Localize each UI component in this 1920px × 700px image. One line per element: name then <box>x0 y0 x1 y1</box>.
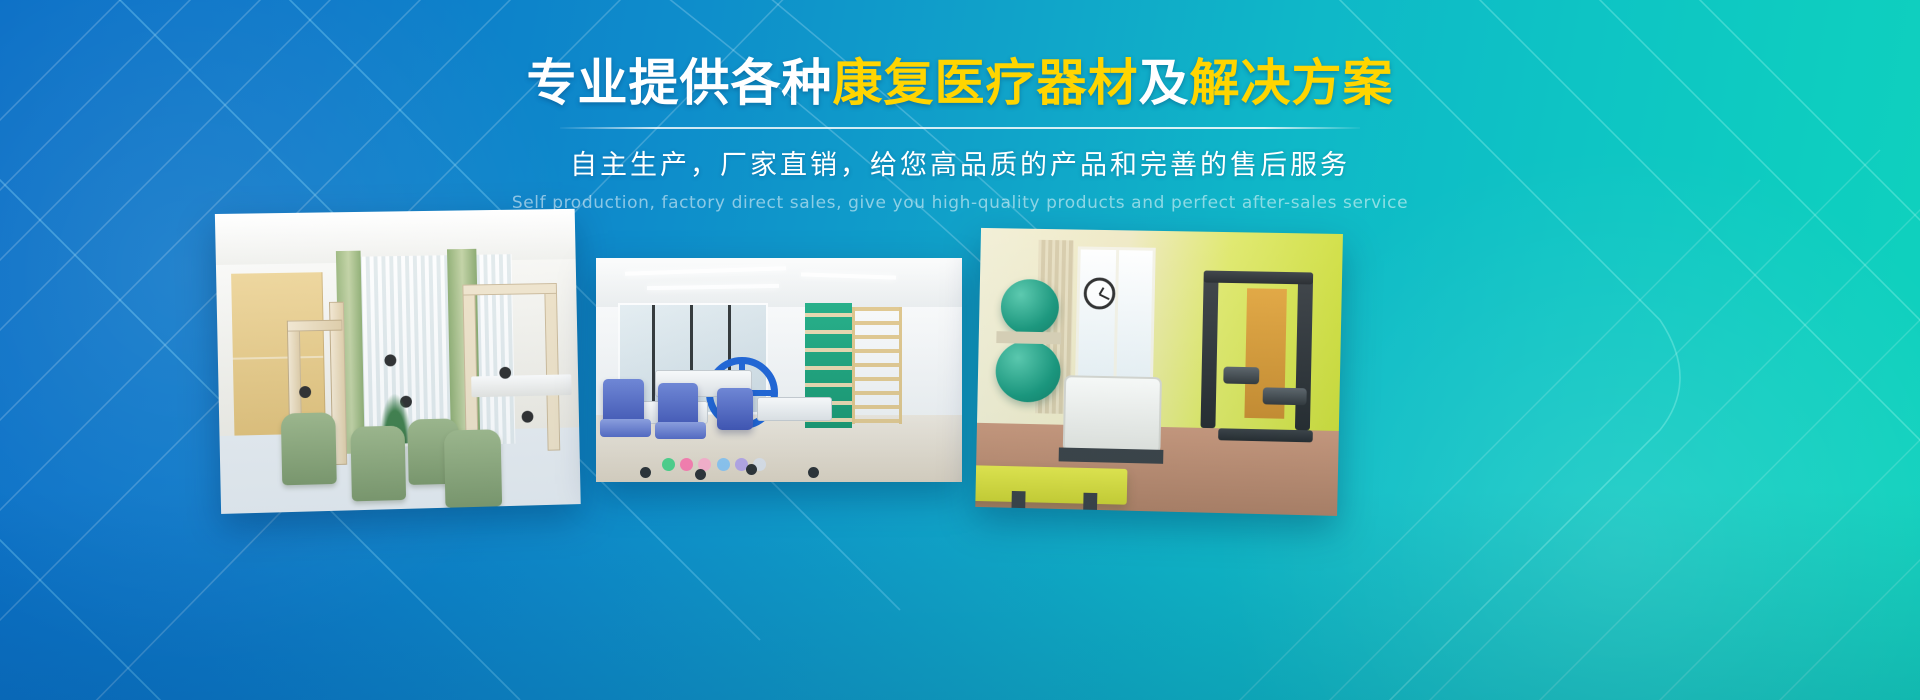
training-frame-beam <box>286 320 343 332</box>
scene-rehab-gym-room <box>975 228 1343 516</box>
window <box>1075 246 1156 388</box>
blue-chair-seat-1 <box>600 419 651 437</box>
headline-part-white-2: 及 <box>1139 54 1190 112</box>
headline-part-yellow-1: 康复医疗器材 <box>833 54 1139 112</box>
yellow-treatment-table <box>975 465 1127 505</box>
caster-wheel-1 <box>640 467 651 478</box>
bar-rung-1 <box>805 313 853 317</box>
equipment-trolley <box>757 397 832 421</box>
bar-rung-2 <box>805 330 853 334</box>
cable-machine-crossbar <box>1203 271 1312 284</box>
dumbbell-green <box>662 458 675 471</box>
sage-chair-2 <box>350 426 406 502</box>
page-title: 专业提供各种康复医疗器材及解决方案 <box>0 58 1920 108</box>
promo-banner: 专业提供各种康复医疗器材及解决方案 自主生产，厂家直销，给您高品质的产品和完善的… <box>0 0 1920 700</box>
headline-part-white-1: 专业提供各种 <box>527 54 833 112</box>
wood-cabinet <box>231 272 326 435</box>
subtitle-chinese: 自主生产，厂家直销，给您高品质的产品和完善的售后服务 <box>0 143 1920 182</box>
bar-rung-4 <box>805 366 853 370</box>
right-frame-rail <box>462 283 557 296</box>
parallel-bar-rack <box>1063 375 1162 454</box>
sage-chair-4 <box>444 429 503 508</box>
machine-foot-rail <box>1218 429 1313 442</box>
mirror-mullion-1 <box>652 305 655 413</box>
photo-rehab-equipment-hall[interactable] <box>596 258 962 482</box>
subtitle-english: Self production, factory direct sales, g… <box>0 193 1920 213</box>
blue-chair-seat-2 <box>655 422 706 440</box>
table-leg-a <box>1011 491 1026 514</box>
ceiling <box>596 258 962 307</box>
photo-rehab-gym-room[interactable] <box>975 228 1343 516</box>
therapy-bench <box>471 374 571 397</box>
dumbbell-blue <box>717 458 730 471</box>
rack-base <box>1059 447 1164 463</box>
wooden-ladder <box>852 307 902 423</box>
caster-wheel-4 <box>808 467 819 478</box>
scene-rehab-training-room <box>215 209 581 514</box>
bar-rung-5 <box>805 383 853 387</box>
machine-pad-a <box>1223 367 1260 385</box>
sage-chair-1 <box>281 412 337 485</box>
photo-rehab-training-room[interactable] <box>215 209 581 514</box>
window-mullion <box>1114 250 1120 385</box>
table-leg-b <box>1083 493 1098 516</box>
blue-therapy-chair-3 <box>717 388 754 431</box>
dumbbell-pink <box>680 458 693 471</box>
machine-pad-b <box>1263 387 1307 405</box>
headline-part-yellow-2: 解决方案 <box>1190 54 1394 112</box>
divider-rule <box>560 127 1360 129</box>
photo-strip <box>0 196 1920 556</box>
exercise-ball-upper <box>1000 279 1059 336</box>
bar-rung-3 <box>805 348 853 352</box>
copy-block: 专业提供各种康复医疗器材及解决方案 自主生产，厂家直销，给您高品质的产品和完善的… <box>0 58 1920 213</box>
caster-wheel-2 <box>695 469 706 480</box>
ball-shelf <box>997 331 1062 343</box>
scene-rehab-equipment-hall <box>596 258 962 482</box>
weight-knob-a <box>299 386 311 398</box>
